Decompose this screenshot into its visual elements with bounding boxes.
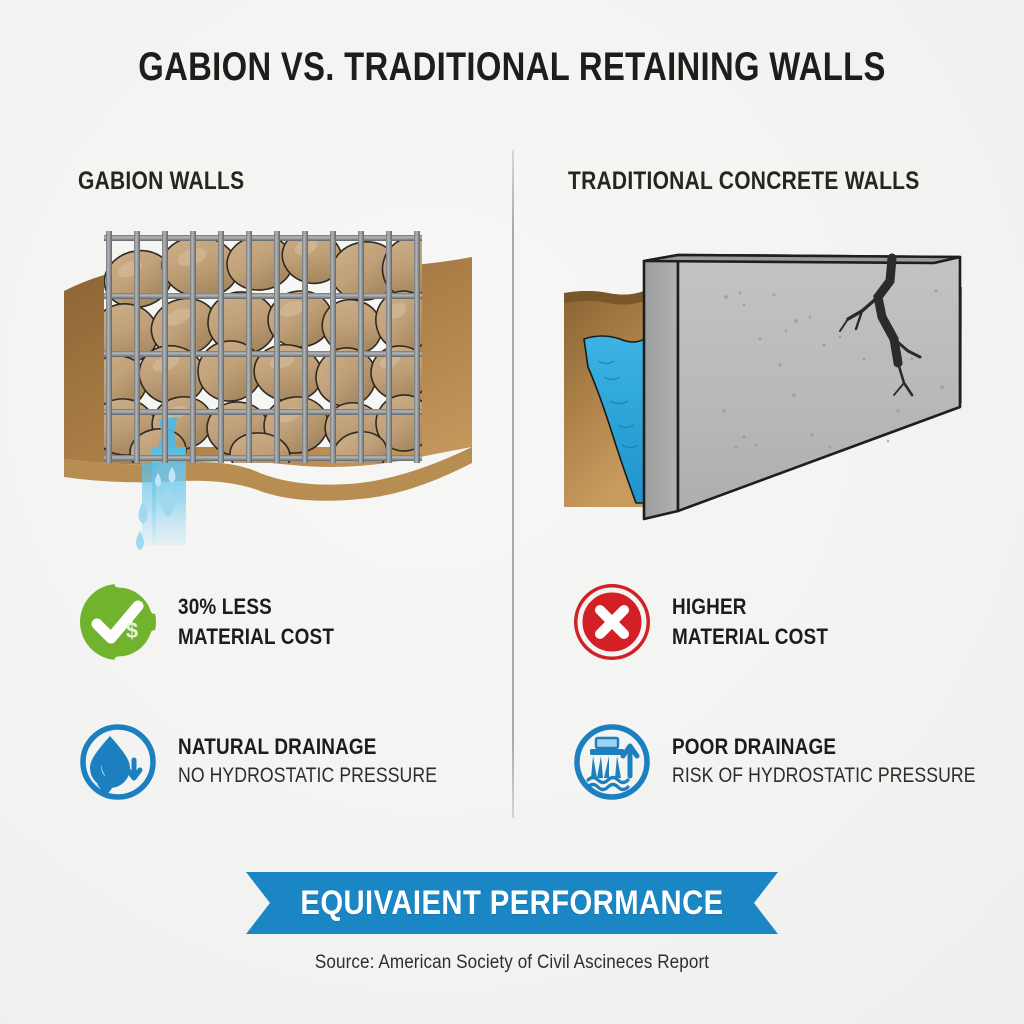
dam-up-arrow-waves-icon — [566, 716, 658, 808]
feature-text: HIGHER MATERIAL COST — [672, 592, 853, 653]
equivalent-performance-banner: EQUIVAIENT PERFORMANCE — [246, 872, 778, 934]
feature-main-line2: MATERIAL COST — [178, 622, 334, 652]
feature-row-concrete-drainage: POOR DRAINAGE RISK OF HYDROSTATIC PRESSU… — [566, 716, 1024, 808]
check-circle-dollar-icon: $ — [72, 576, 164, 668]
banner-label: EQUIVAIENT PERFORMANCE — [283, 872, 741, 934]
column-heading-concrete: TRADITIONAL CONCRETE WALLS — [568, 167, 919, 196]
feature-subtext: NO HYDROSTATIC PRESSURE — [178, 763, 437, 789]
feature-row-gabion-cost: $ 30% LESS MATERIAL COST — [72, 576, 359, 668]
concrete-slab — [644, 255, 960, 519]
source-citation: Source: American Society of Civil Ascine… — [51, 952, 973, 974]
feature-text: POOR DRAINAGE RISK OF HYDROSTATIC PRESSU… — [672, 734, 1024, 789]
page-title: GABION VS. TRADITIONAL RETAINING WALLS — [92, 45, 932, 90]
concrete-wall-illustration — [548, 235, 988, 525]
infographic-canvas: GABION VS. TRADITIONAL RETAINING WALLS G… — [0, 0, 1024, 1024]
feature-main-line1: 30% LESS — [178, 592, 334, 622]
feature-row-gabion-drainage: NATURAL DRAINAGE NO HYDROSTATIC PRESSURE — [72, 716, 486, 808]
feature-main-line1: HIGHER — [672, 592, 828, 622]
feature-main-line2: MATERIAL COST — [672, 622, 828, 652]
feature-text: 30% LESS MATERIAL COST — [178, 592, 359, 653]
water-drop-down-arrows-icon — [72, 716, 164, 808]
feature-row-concrete-cost: HIGHER MATERIAL COST — [566, 576, 853, 668]
svg-text:$: $ — [126, 618, 138, 643]
feature-subtext: RISK OF HYDROSTATIC PRESSURE — [672, 763, 976, 789]
feature-text: NATURAL DRAINAGE NO HYDROSTATIC PRESSURE — [178, 734, 486, 789]
feature-main-line1: NATURAL DRAINAGE — [178, 734, 443, 760]
gabion-wall-illustration — [60, 215, 490, 560]
column-heading-gabion: GABION WALLS — [78, 167, 244, 196]
column-divider — [512, 150, 514, 818]
feature-main-line1: POOR DRAINAGE — [672, 734, 983, 760]
x-circle-icon — [566, 576, 658, 668]
